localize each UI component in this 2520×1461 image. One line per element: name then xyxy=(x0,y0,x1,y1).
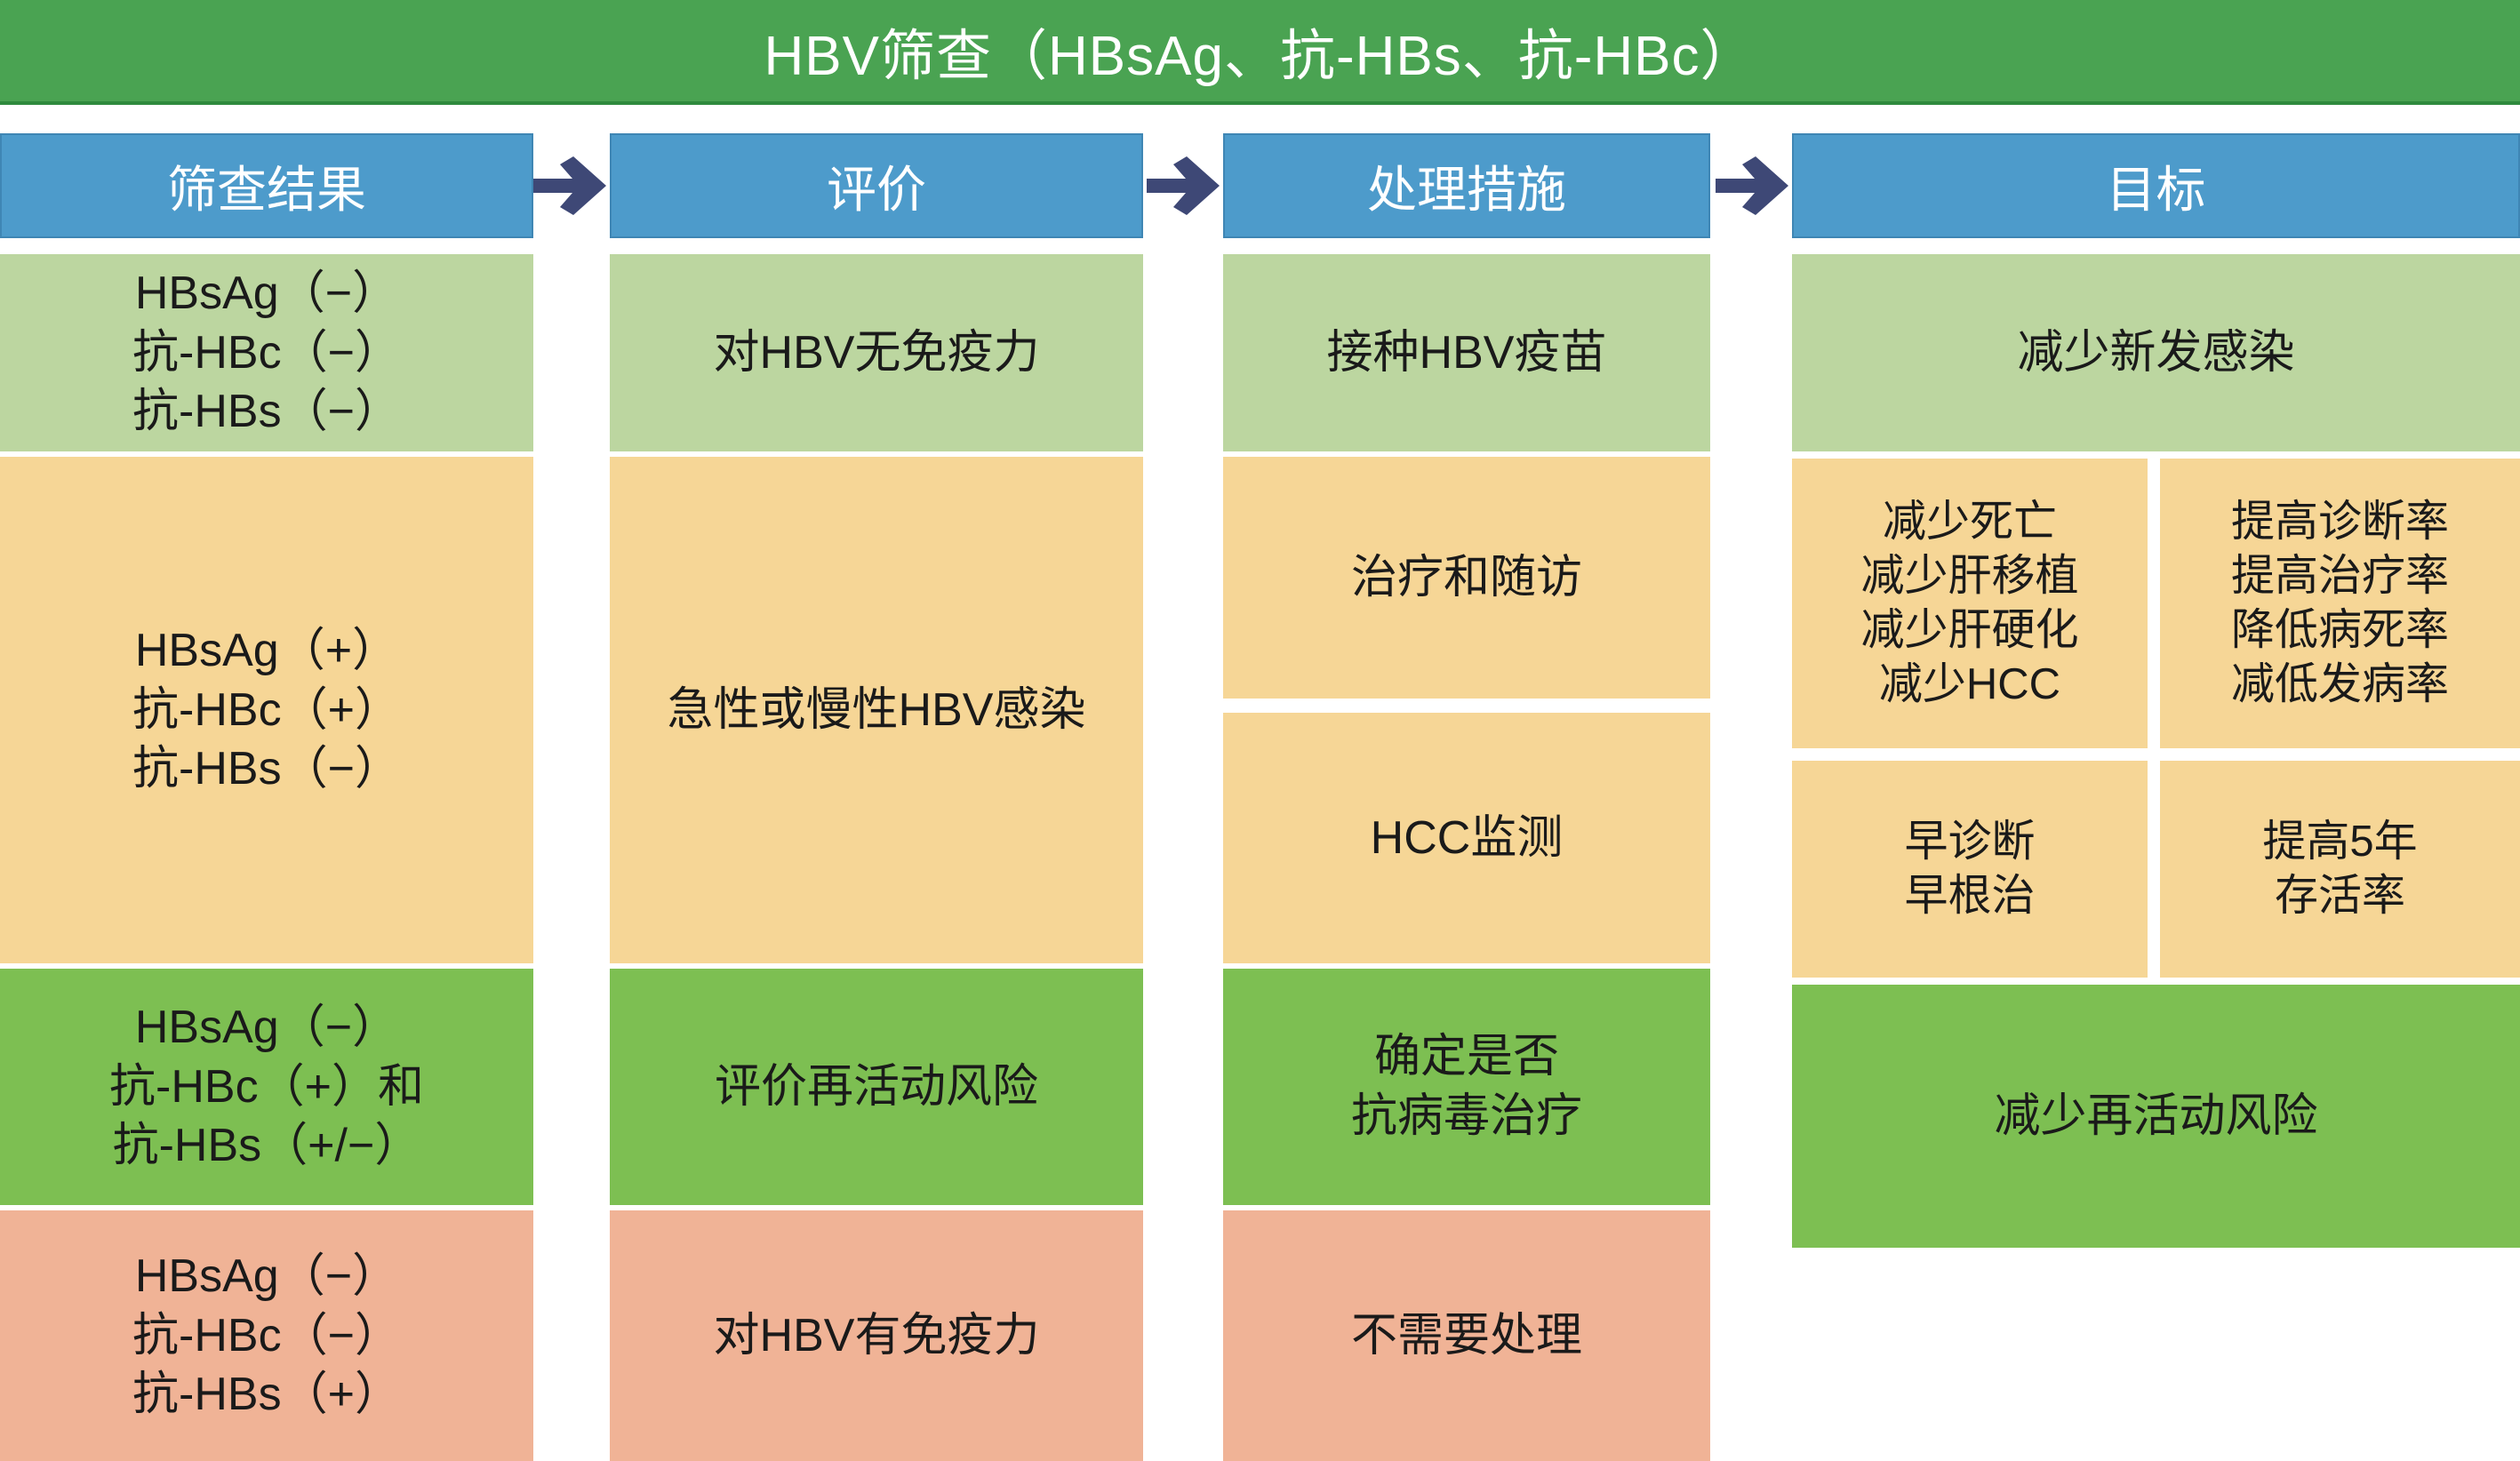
cell-label: 对HBV有免疫力 xyxy=(708,1306,1045,1366)
arrow-right-icon-1 xyxy=(533,153,610,219)
evaluation-cell-1: 对HBV无免疫力 xyxy=(610,254,1143,451)
cell-label: 早诊断 早根治 xyxy=(1899,815,2040,924)
column-header-label: 目标 xyxy=(2107,150,2206,222)
cell-label: 减少新发感染 xyxy=(2012,323,2300,383)
management-cell-3: HCC监测 xyxy=(1223,713,1710,963)
cell-label: 不需要处理 xyxy=(1346,1306,1588,1366)
cell-label: 减少再活动风险 xyxy=(1988,1087,2323,1146)
arrow-right-icon-2 xyxy=(1147,153,1223,219)
screening-result-cell-1: HBsAg（−） 抗-HBc（−） 抗-HBs（−） xyxy=(0,254,533,451)
goal-cell-reduce-new-infections: 减少新发感染 xyxy=(1792,254,2520,451)
column-header-evaluation: 评价 xyxy=(610,133,1143,238)
cell-label: HBsAg（−） 抗-HBc（−） 抗-HBs（+） xyxy=(127,1247,406,1425)
column-header-label: 评价 xyxy=(827,150,926,222)
goal-cell-reduce-reactivation-risk: 减少再活动风险 xyxy=(1792,985,2520,1248)
cell-label: 接种HBV疫苗 xyxy=(1322,323,1612,383)
column-header-label: 筛查结果 xyxy=(167,150,366,222)
cell-label: 评价再活动风险 xyxy=(709,1058,1044,1117)
management-cell-4: 确定是否 抗病毒治疗 xyxy=(1223,969,1710,1205)
arrow-right-icon-3 xyxy=(1716,153,1792,219)
evaluation-cell-2: 急性或慢性HBV感染 xyxy=(610,457,1143,963)
cell-label: 治疗和随访 xyxy=(1346,548,1588,608)
management-cell-5: 不需要处理 xyxy=(1223,1210,1710,1461)
hbv-screening-flowchart: HBV筛查（HBsAg、抗-HBs、抗-HBc） 筛查结果 评价 处理措施 目标… xyxy=(0,0,2520,1461)
goal-cell-early-diagnosis: 早诊断 早根治 xyxy=(1792,761,2148,978)
cell-label: 对HBV无免疫力 xyxy=(708,323,1045,383)
evaluation-cell-3: 评价再活动风险 xyxy=(610,969,1143,1205)
goal-cell-reduce-outcomes: 减少死亡 减少肝移植 减少肝硬化 减少HCC xyxy=(1792,459,2148,748)
screening-result-cell-2: HBsAg（+） 抗-HBc（+） 抗-HBs（−） xyxy=(0,457,533,963)
cell-label: 提高5年 存活率 xyxy=(2257,815,2422,924)
column-header-management: 处理措施 xyxy=(1223,133,1710,238)
cell-label: HCC监测 xyxy=(1365,809,1569,868)
cell-label: 减少死亡 减少肝移植 减少肝硬化 减少HCC xyxy=(1855,495,2084,713)
goal-cell-5year-survival: 提高5年 存活率 xyxy=(2160,761,2520,978)
management-cell-1: 接种HBV疫苗 xyxy=(1223,254,1710,451)
screening-result-cell-4: HBsAg（−） 抗-HBc（−） 抗-HBs（+） xyxy=(0,1210,533,1461)
screening-result-cell-3: HBsAg（−） 抗-HBc（+）和 抗-HBs（+/−） xyxy=(0,969,533,1205)
cell-label: 提高诊断率 提高治疗率 降低病死率 减低发病率 xyxy=(2226,495,2454,713)
chart-title-banner: HBV筛查（HBsAg、抗-HBs、抗-HBc） xyxy=(0,0,2520,105)
cell-label: 急性或慢性HBV感染 xyxy=(662,681,1092,740)
goal-cell-improve-rates: 提高诊断率 提高治疗率 降低病死率 减低发病率 xyxy=(2160,459,2520,748)
column-header-goals: 目标 xyxy=(1792,133,2520,238)
chart-title: HBV筛查（HBsAg、抗-HBs、抗-HBc） xyxy=(764,11,1756,91)
cell-label: 确定是否 抗病毒治疗 xyxy=(1346,1027,1588,1146)
cell-label: HBsAg（+） 抗-HBc（+） 抗-HBs（−） xyxy=(127,621,406,799)
cell-label: HBsAg（−） 抗-HBc（+）和 抗-HBs（+/−） xyxy=(104,998,429,1176)
column-header-label: 处理措施 xyxy=(1367,150,1566,222)
evaluation-cell-4: 对HBV有免疫力 xyxy=(610,1210,1143,1461)
cell-label: HBsAg（−） 抗-HBc（−） 抗-HBs（−） xyxy=(127,264,406,442)
management-cell-2: 治疗和随访 xyxy=(1223,457,1710,699)
column-header-screening-results: 筛查结果 xyxy=(0,133,533,238)
